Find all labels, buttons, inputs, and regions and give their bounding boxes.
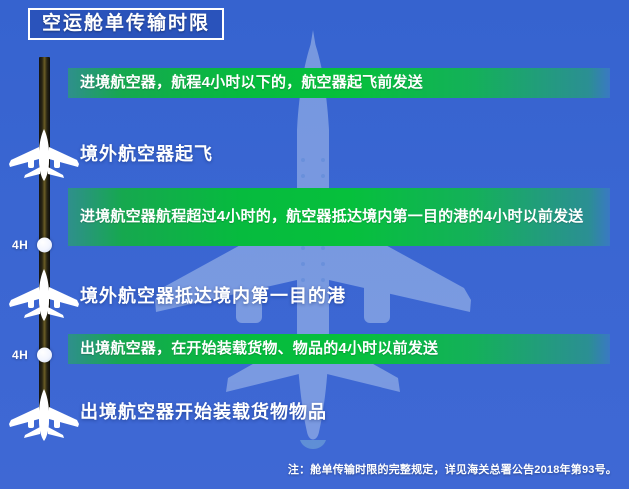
- timeline-node-1-label: 4H: [12, 238, 28, 252]
- poster-canvas: 空运舱单传输时限 4H 4H: [0, 0, 629, 489]
- airplane-icon: [7, 127, 81, 183]
- airplane-icon: [7, 267, 81, 323]
- rule-band-2: 进境航空器航程超过4小时的，航空器抵达境内第一目的港的4小时以前发送: [68, 188, 610, 246]
- page-title: 空运舱单传输时限: [28, 8, 224, 40]
- timeline-node-2-label: 4H: [12, 348, 28, 362]
- footer-note: 注：舱单传输时限的完整规定，详见海关总署公告2018年第93号。: [288, 461, 617, 477]
- step-label-departure: 境外航空器起飞: [80, 140, 213, 166]
- timeline-node-1: [37, 238, 52, 253]
- rule-band-2-text: 进境航空器航程超过4小时的，航空器抵达境内第一目的港的4小时以前发送: [68, 202, 594, 232]
- rule-band-3: 出境航空器，在开始装载货物、物品的4小时以前发送: [68, 334, 610, 364]
- airplane-icon: [7, 387, 81, 443]
- rule-band-3-text: 出境航空器，在开始装载货物、物品的4小时以前发送: [68, 334, 448, 364]
- rule-band-1: 进境航空器，航程4小时以下的，航空器起飞前发送: [68, 68, 610, 98]
- step-label-loading: 出境航空器开始装载货物物品: [80, 398, 327, 424]
- page-title-text: 空运舱单传输时限: [42, 14, 210, 33]
- step-label-arrival: 境外航空器抵达境内第一目的港: [80, 282, 346, 308]
- timeline-node-2: [37, 348, 52, 363]
- rule-band-1-text: 进境航空器，航程4小时以下的，航空器起飞前发送: [68, 68, 433, 98]
